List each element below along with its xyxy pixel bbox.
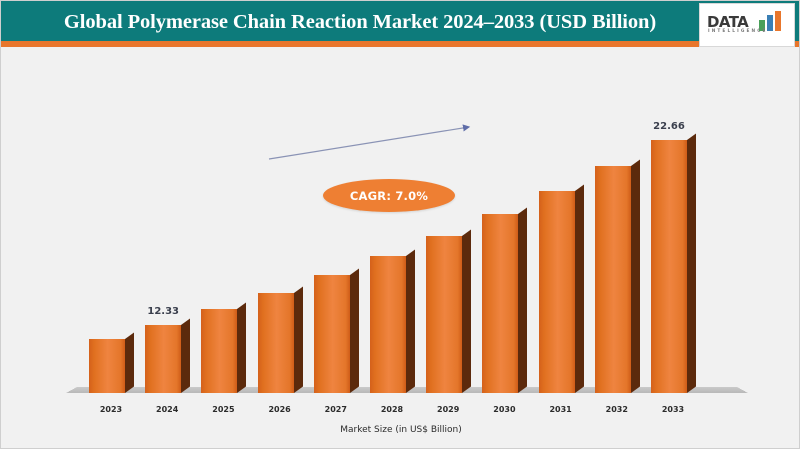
bar-2027[interactable] (314, 275, 350, 393)
bar-2025[interactable] (201, 309, 237, 393)
bar-front-face (482, 214, 518, 393)
bar-side-face (575, 184, 584, 393)
logo-bars-icon (759, 11, 785, 31)
bar-side-face (406, 250, 415, 393)
page-title: Global Polymerase Chain Reaction Market … (15, 7, 705, 39)
bar-front-face (651, 140, 687, 393)
bar-side-face (631, 160, 640, 393)
bar-2033[interactable] (651, 140, 687, 393)
bar-front-face (89, 339, 125, 393)
bar-front-face (314, 275, 350, 393)
bar-side-face (237, 303, 246, 393)
bar-front-face (539, 191, 575, 393)
bar-side-face (125, 332, 134, 393)
chart-page: Global Polymerase Chain Reaction Market … (0, 0, 800, 449)
bar-front-face (595, 166, 631, 393)
chart-plot-area: 12.3322.66 20232024202520262027202820292… (1, 47, 800, 449)
bar-2030[interactable] (482, 214, 518, 393)
bar-side-face (518, 208, 527, 393)
bar-2026[interactable] (258, 293, 294, 393)
bar-front-face (145, 325, 181, 393)
bar-value-label-2024: 12.33 (128, 306, 198, 317)
logo-subtitle: INTELLIGENCE (708, 29, 767, 34)
bar-2032[interactable] (595, 166, 631, 393)
bar-side-face (687, 133, 696, 393)
brand-logo: DATA INTELLIGENCE (699, 3, 795, 47)
x-axis-title: Market Size (in US$ Billion) (1, 425, 800, 435)
bar-2031[interactable] (539, 191, 575, 393)
bar-front-face (201, 309, 237, 393)
x-tick-2033: 2033 (638, 405, 708, 414)
bar-2029[interactable] (426, 236, 462, 393)
logo-bar-3 (775, 11, 781, 31)
bar-side-face (462, 229, 471, 393)
bar-side-face (294, 286, 303, 393)
bar-value-label-2033: 22.66 (634, 121, 704, 132)
bar-2028[interactable] (370, 256, 406, 393)
bar-2023[interactable] (89, 339, 125, 393)
bar-2024[interactable] (145, 325, 181, 393)
cagr-badge: CAGR: 7.0% (323, 179, 455, 212)
bar-side-face (350, 268, 359, 393)
bar-side-face (181, 318, 190, 393)
logo-bar-2 (767, 15, 773, 31)
bar-front-face (258, 293, 294, 393)
bar-front-face (370, 256, 406, 393)
logo-inner: DATA INTELLIGENCE (705, 10, 789, 40)
bar-front-face (426, 236, 462, 393)
